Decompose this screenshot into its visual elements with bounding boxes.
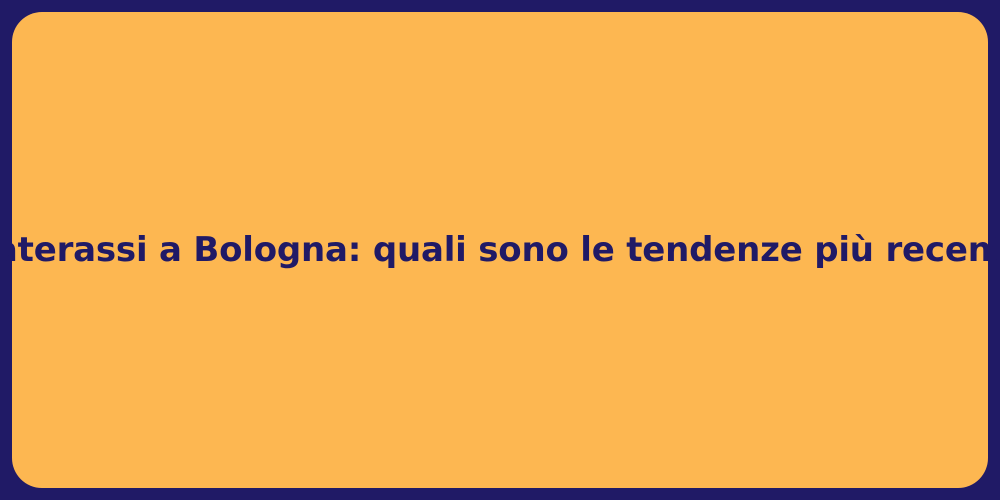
banner-panel: Materassi a Bologna: quali sono le tende… xyxy=(12,12,988,488)
page-title: Materassi a Bologna: quali sono le tende… xyxy=(0,229,1000,272)
banner-frame: Materassi a Bologna: quali sono le tende… xyxy=(0,0,1000,500)
